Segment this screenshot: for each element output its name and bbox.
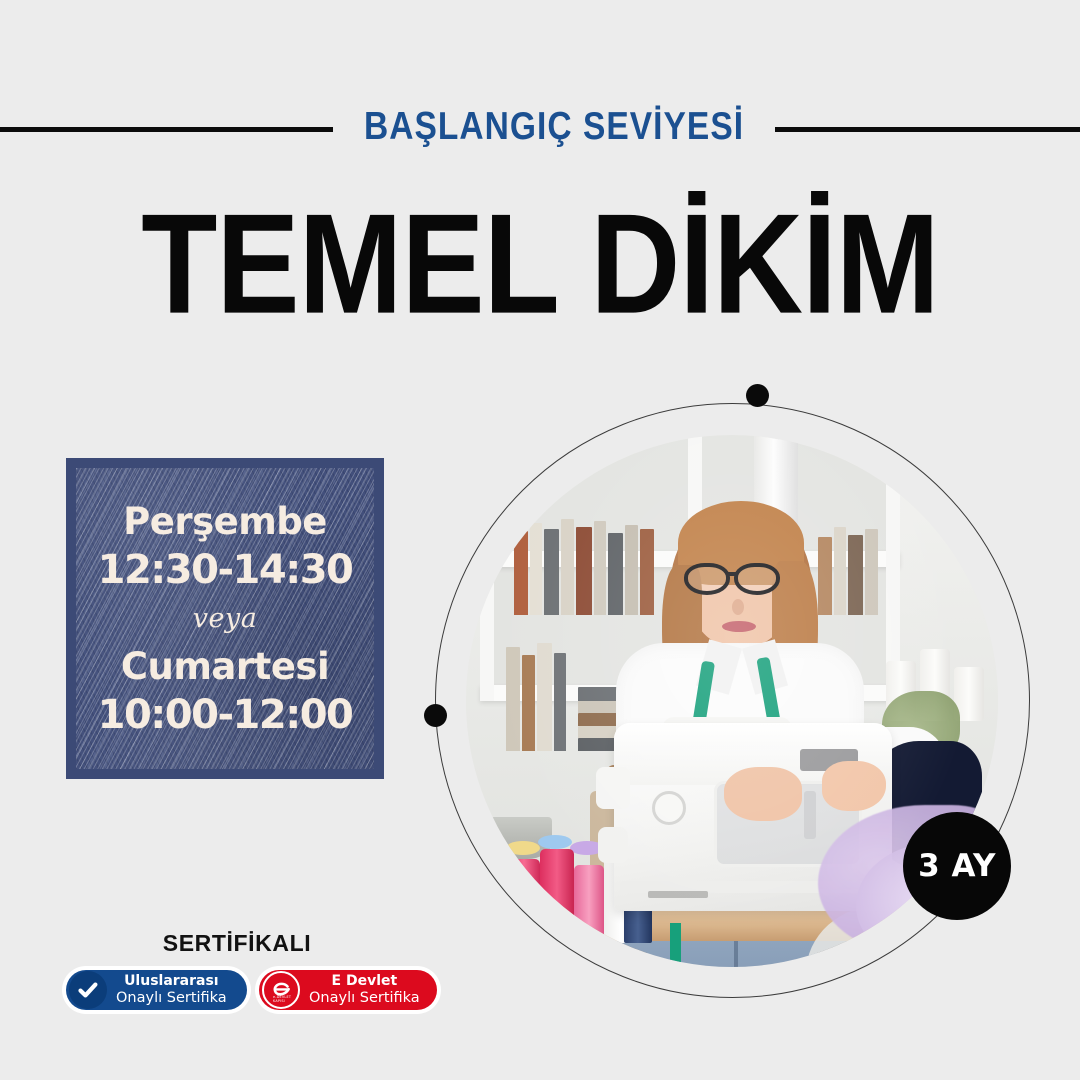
- poster-canvas: BAŞLANGIÇ SEVİYESİ TEMEL DİKİM Perşembe …: [0, 0, 1080, 1080]
- badge-text: E Devlet Onaylı Sertifika: [300, 974, 433, 1006]
- schedule-day-1: Perşembe: [123, 498, 327, 545]
- certificate-badge-row: Uluslararası Onaylı Sertifika e-DEVLET K…: [62, 966, 462, 1014]
- schedule-day-2: Cumartesi: [121, 643, 329, 690]
- badge-line-1: Uluslararası: [116, 974, 227, 990]
- check-mark-icon: [69, 971, 107, 1009]
- certificate-heading: SERTİFİKALI: [62, 930, 402, 957]
- edevlet-logo-caption: e-DEVLET KAPISI: [273, 995, 298, 1003]
- badge-edevlet: e-DEVLET KAPISI E Devlet Onaylı Sertifik…: [255, 966, 441, 1014]
- schedule-time-2: 10:00-12:00: [98, 690, 353, 740]
- badge-line-2: Onaylı Sertifika: [116, 990, 227, 1006]
- schedule-box: Perşembe 12:30-14:30 veya Cumartesi 10:0…: [66, 458, 384, 779]
- schedule-text-group: Perşembe 12:30-14:30 veya Cumartesi 10:0…: [66, 458, 384, 779]
- badge-line-1: E Devlet: [309, 974, 420, 990]
- page-title: TEMEL DİKİM: [38, 196, 1042, 334]
- orbit-dot-top: [746, 384, 769, 407]
- schedule-time-1: 12:30-14:30: [98, 545, 353, 595]
- badge-international: Uluslararası Onaylı Sertifika: [62, 966, 251, 1014]
- eyebrow-row: BAŞLANGIÇ SEVİYESİ: [0, 100, 1080, 160]
- duration-badge: 3 AY: [903, 812, 1011, 920]
- e-devlet-logo-icon: e-DEVLET KAPISI: [262, 971, 300, 1009]
- eyebrow-rule-left: [0, 127, 333, 132]
- schedule-separator: veya: [193, 595, 258, 643]
- certificate-section: SERTİFİKALI Uluslararası Onaylı Sertifik…: [62, 930, 462, 1014]
- badge-text: Uluslararası Onaylı Sertifika: [107, 974, 240, 1006]
- eyebrow-label: BAŞLANGIÇ SEVİYESİ: [364, 100, 744, 160]
- orbit-dot-left: [424, 704, 447, 727]
- eyebrow-rule-right: [775, 127, 1080, 132]
- badge-line-2: Onaylı Sertifika: [309, 990, 420, 1006]
- duration-badge-label: 3 AY: [918, 848, 996, 884]
